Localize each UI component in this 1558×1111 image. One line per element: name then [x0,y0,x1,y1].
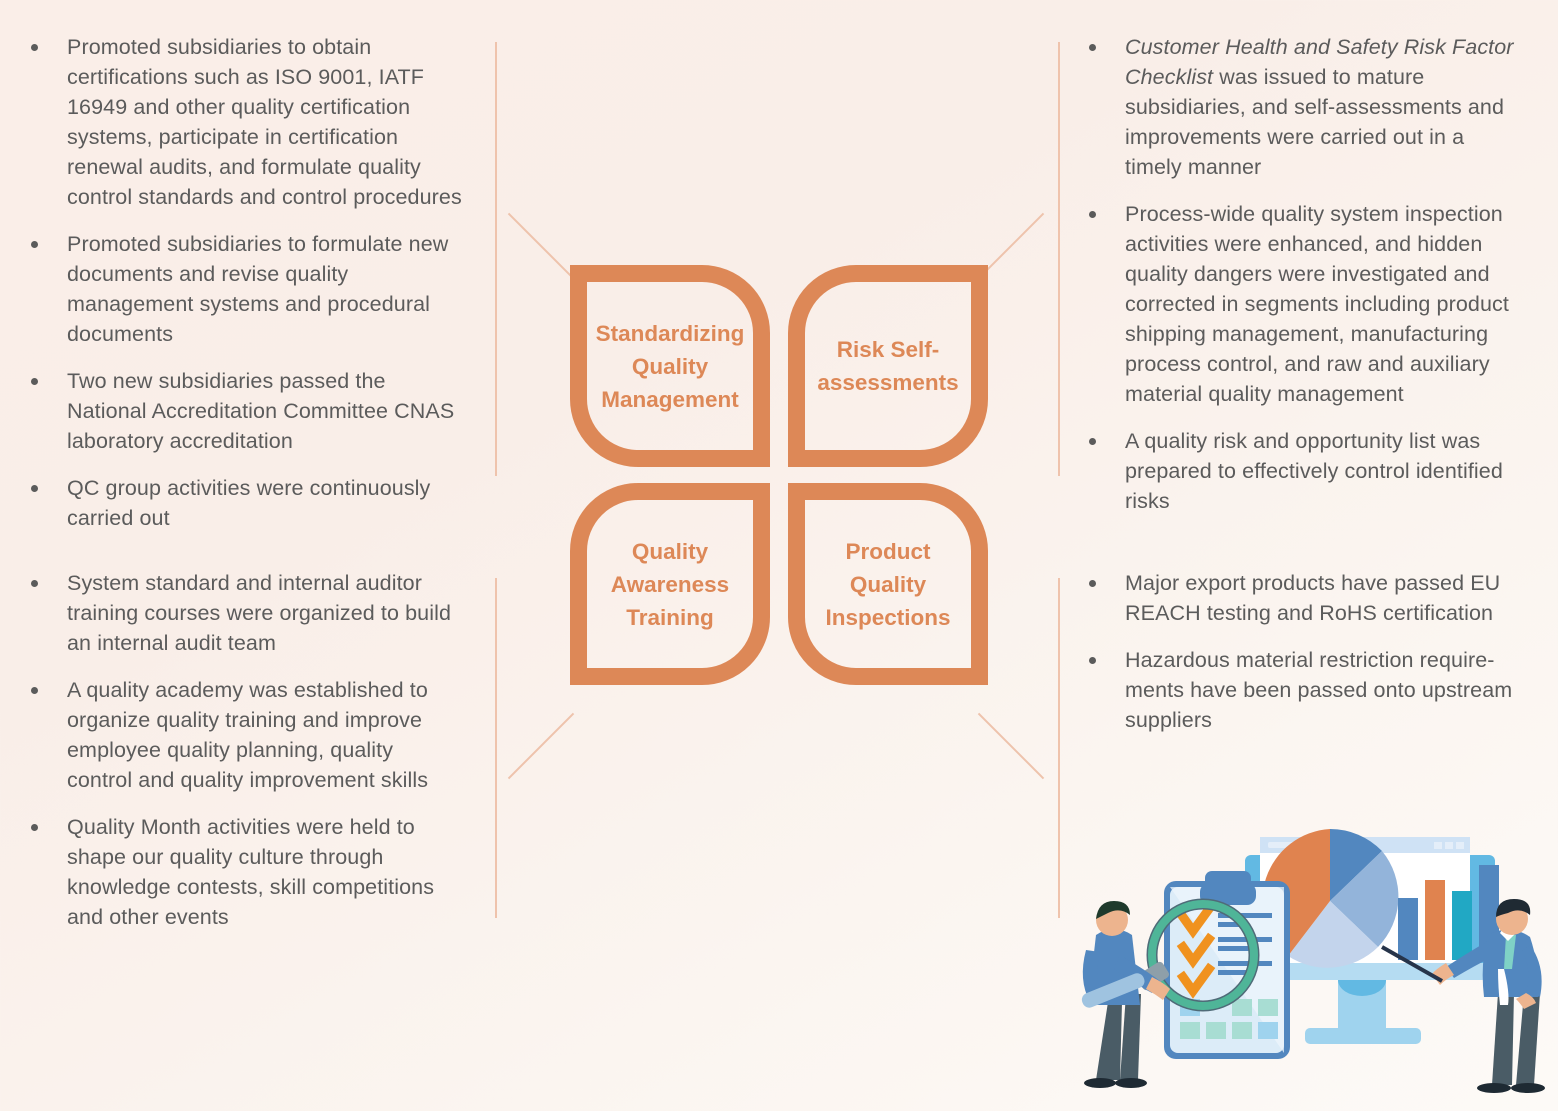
petal-label: Product Quality Inspections [805,535,971,634]
petal-product-quality-inspections[interactable]: Product Quality Inspections [788,483,988,685]
list-item: A quality academy was established to org… [22,675,462,795]
list-item: A quality risk and opportunity list was … [1080,426,1520,516]
list-item: Process-wide quality system inspection a… [1080,199,1520,409]
diagonal-connector-top-left [508,213,574,279]
list-item-text: A quality risk and opportunity list was … [1125,429,1503,513]
column-bottom-right: Major export products have passed EU REA… [1080,568,1520,752]
divider-left-bottom [495,578,497,918]
petal-label: Risk Self-assessments [805,333,971,399]
diagonal-connector-bottom-left [508,713,574,779]
list-item: Hazardous material restriction require-m… [1080,645,1520,735]
column-bottom-left: System standard and internal auditor tra… [22,568,462,949]
divider-left-top [495,42,497,476]
petal-quality-awareness-training[interactable]: Quality Awareness Training [570,483,770,685]
list-item: System standard and internal auditor tra… [22,568,462,658]
list-item: QC group activities were continuously ca… [22,473,462,533]
petal-risk-self-assessments[interactable]: Risk Self-assessments [788,265,988,467]
list-item-text: Process-wide quality system inspection a… [1125,202,1509,406]
list-item: Promoted subsidiaries to formulate new d… [22,229,462,349]
petal-standardizing-quality-management[interactable]: Standardizing Quality Management [570,265,770,467]
column-top-left: Promoted subsidiaries to obtain certific… [22,32,462,550]
clipboard-checklist-icon [1164,871,1290,1059]
bullet-list-top-left: Promoted subsidiaries to obtain certific… [22,32,462,533]
bullet-list-bottom-right: Major export products have passed EU REA… [1080,568,1520,735]
petal-label: Quality Awareness Training [587,535,753,634]
list-item: Quality Month activities were held to sh… [22,812,462,932]
petal-label: Standardizing Quality Management [587,317,753,416]
divider-right-top [1058,42,1060,476]
list-item: Customer Health and Safety Risk Factor C… [1080,32,1520,182]
bullet-list-top-right: Customer Health and Safety Risk Factor C… [1080,32,1520,516]
bullet-list-bottom-left: System standard and internal auditor tra… [22,568,462,932]
list-item: Major export products have passed EU REA… [1080,568,1520,628]
quality-inspection-illustration [1060,795,1558,1111]
list-item: Two new subsidiaries passed the National… [22,366,462,456]
column-top-right: Customer Health and Safety Risk Factor C… [1080,32,1520,533]
list-item: Promoted subsidiaries to obtain certific… [22,32,462,212]
quality-management-flower-diagram: Standardizing Quality Management Risk Se… [570,265,988,685]
diagonal-connector-bottom-right [978,713,1044,779]
